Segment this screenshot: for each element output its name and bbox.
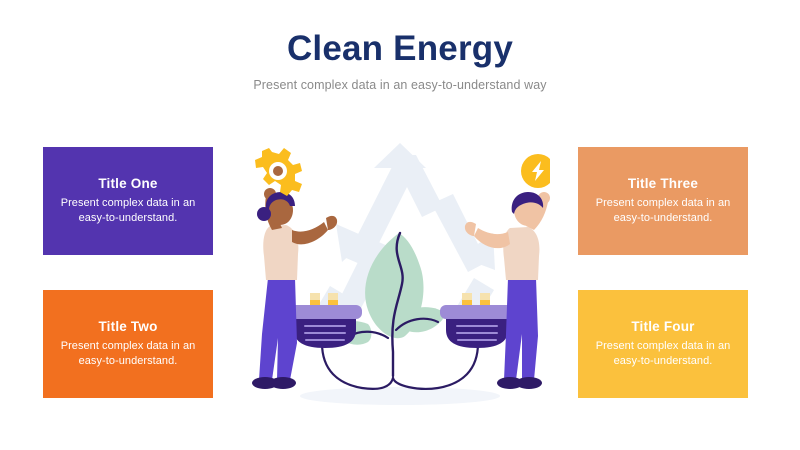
info-card-one[interactable]: Title One Present complex data in an eas… [43, 147, 213, 255]
card-body: Present complex data in an easy-to-under… [51, 339, 205, 368]
info-card-four[interactable]: Title Four Present complex data in an ea… [578, 290, 748, 398]
gear-icon [255, 148, 302, 196]
clean-energy-illustration [250, 138, 550, 410]
card-title: Title Two [98, 318, 157, 335]
card-body: Present complex data in an easy-to-under… [51, 196, 205, 225]
ground-shadow-icon [300, 387, 500, 405]
card-title: Title Four [631, 318, 694, 335]
page-subtitle: Present complex data in an easy-to-under… [0, 76, 800, 94]
slide-canvas: Clean Energy Present complex data in an … [0, 0, 800, 450]
header: Clean Energy Present complex data in an … [0, 28, 800, 94]
shoe-icon [252, 377, 278, 389]
card-title: Title Three [628, 175, 698, 192]
card-title: Title One [98, 175, 157, 192]
card-body: Present complex data in an easy-to-under… [586, 196, 740, 225]
info-card-three[interactable]: Title Three Present complex data in an e… [578, 147, 748, 255]
info-card-two[interactable]: Title Two Present complex data in an eas… [43, 290, 213, 398]
hair-bun-icon [257, 207, 271, 221]
lightning-bolt-icon [521, 154, 550, 188]
card-body: Present complex data in an easy-to-under… [586, 339, 740, 368]
page-title: Clean Energy [0, 28, 800, 70]
power-cords-icon [322, 343, 478, 389]
shoe-icon [516, 377, 542, 389]
